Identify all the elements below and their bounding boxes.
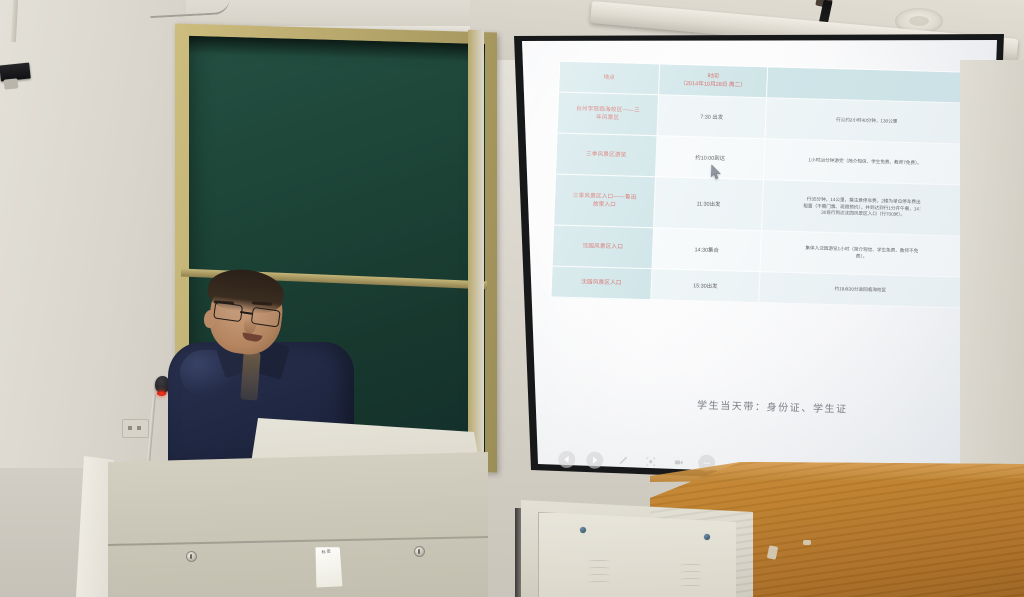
podium-body [108, 452, 488, 597]
wall-socket[interactable] [122, 419, 149, 438]
row-note: 集体入沈园游览1小时（简介短信、学生免费、教师不免 费）。 [760, 231, 963, 277]
schedule-table: 地点 时间 （2014年10月28日 周二） 台州学院临海校区——三 年风景区 … [550, 61, 970, 309]
slide-footer-note: 学生当天带：身份证、学生证 [642, 395, 902, 417]
slide-content: 地点 时间 （2014年10月28日 周二） 台州学院临海校区——三 年风景区 … [522, 40, 986, 482]
microphone-led-indicator [157, 391, 166, 396]
desk-paint-mark-b [803, 540, 811, 545]
pen-icon[interactable] [614, 452, 632, 469]
podium-lock-left[interactable] [186, 551, 197, 562]
podium-lock-right[interactable] [414, 546, 425, 557]
presenter-shirt-placket [240, 351, 260, 400]
wall-device-mount [4, 78, 19, 89]
row-location: 三季风景区游览 [555, 133, 657, 177]
cabinet-screw-left [580, 527, 586, 533]
row-time: 15:30出发 [651, 269, 760, 303]
row-time: 7:30 出发 [657, 95, 766, 139]
row-location: 三季风景区入口——鲁迅 故里入口 [554, 174, 656, 228]
previous-slide-icon[interactable] [558, 451, 576, 468]
projection-screen: 地点 时间 （2014年10月28日 周二） 台州学院临海校区——三 年风景区 … [500, 14, 1020, 504]
row-location: 沈园风景区入口 [552, 225, 654, 269]
row-time: 14:30集合 [652, 228, 761, 272]
glasses-lens-left [213, 301, 243, 322]
spotlight-icon[interactable] [642, 453, 660, 470]
header-time: 时间 （2014年10月28日 周二） [659, 64, 768, 98]
presentation-toolbar[interactable] [558, 451, 716, 472]
camera-icon[interactable] [670, 454, 688, 471]
row-note: 行35分钟，14公里，需注意停车费，2楼为单位停车费出 租置（不需门票、现照预约… [761, 180, 965, 236]
row-location-line2: 故里入口 [557, 200, 652, 211]
row-note: 行公约2小时40分钟，130公里 [765, 98, 968, 144]
row-location: 台州学院临海校区——三 年风景区 [557, 92, 659, 136]
header-time-line2: （2014年10月28日 周二） [661, 79, 764, 90]
header-location: 地点 [559, 61, 660, 95]
chalkboard-right-edge [468, 30, 484, 470]
cabinet-vent-right [680, 564, 702, 590]
next-slide-icon[interactable] [586, 451, 604, 468]
lecture-hall-photo: 地点 时间 （2014年10月28日 周二） 台州学院临海校区——三 年风景区 … [0, 0, 1024, 597]
row-note: 1小时30分钟游完（简介短信、学生免费、教师7免费）。 [763, 139, 966, 185]
row-location-line2: 年风景区 [560, 113, 655, 124]
row-time: 11:30出发 [654, 177, 764, 231]
row-location: 沈园风景区入口 [551, 266, 652, 300]
cabinet-screw-right [704, 534, 710, 540]
row-note: 约18点30分返回临海校区 [759, 272, 962, 308]
right-wall [960, 60, 1024, 470]
cabinet-vent-left [588, 560, 610, 586]
cabinet-door-panel[interactable] [538, 512, 738, 597]
podium-tag-text: 标 签 [314, 548, 338, 556]
